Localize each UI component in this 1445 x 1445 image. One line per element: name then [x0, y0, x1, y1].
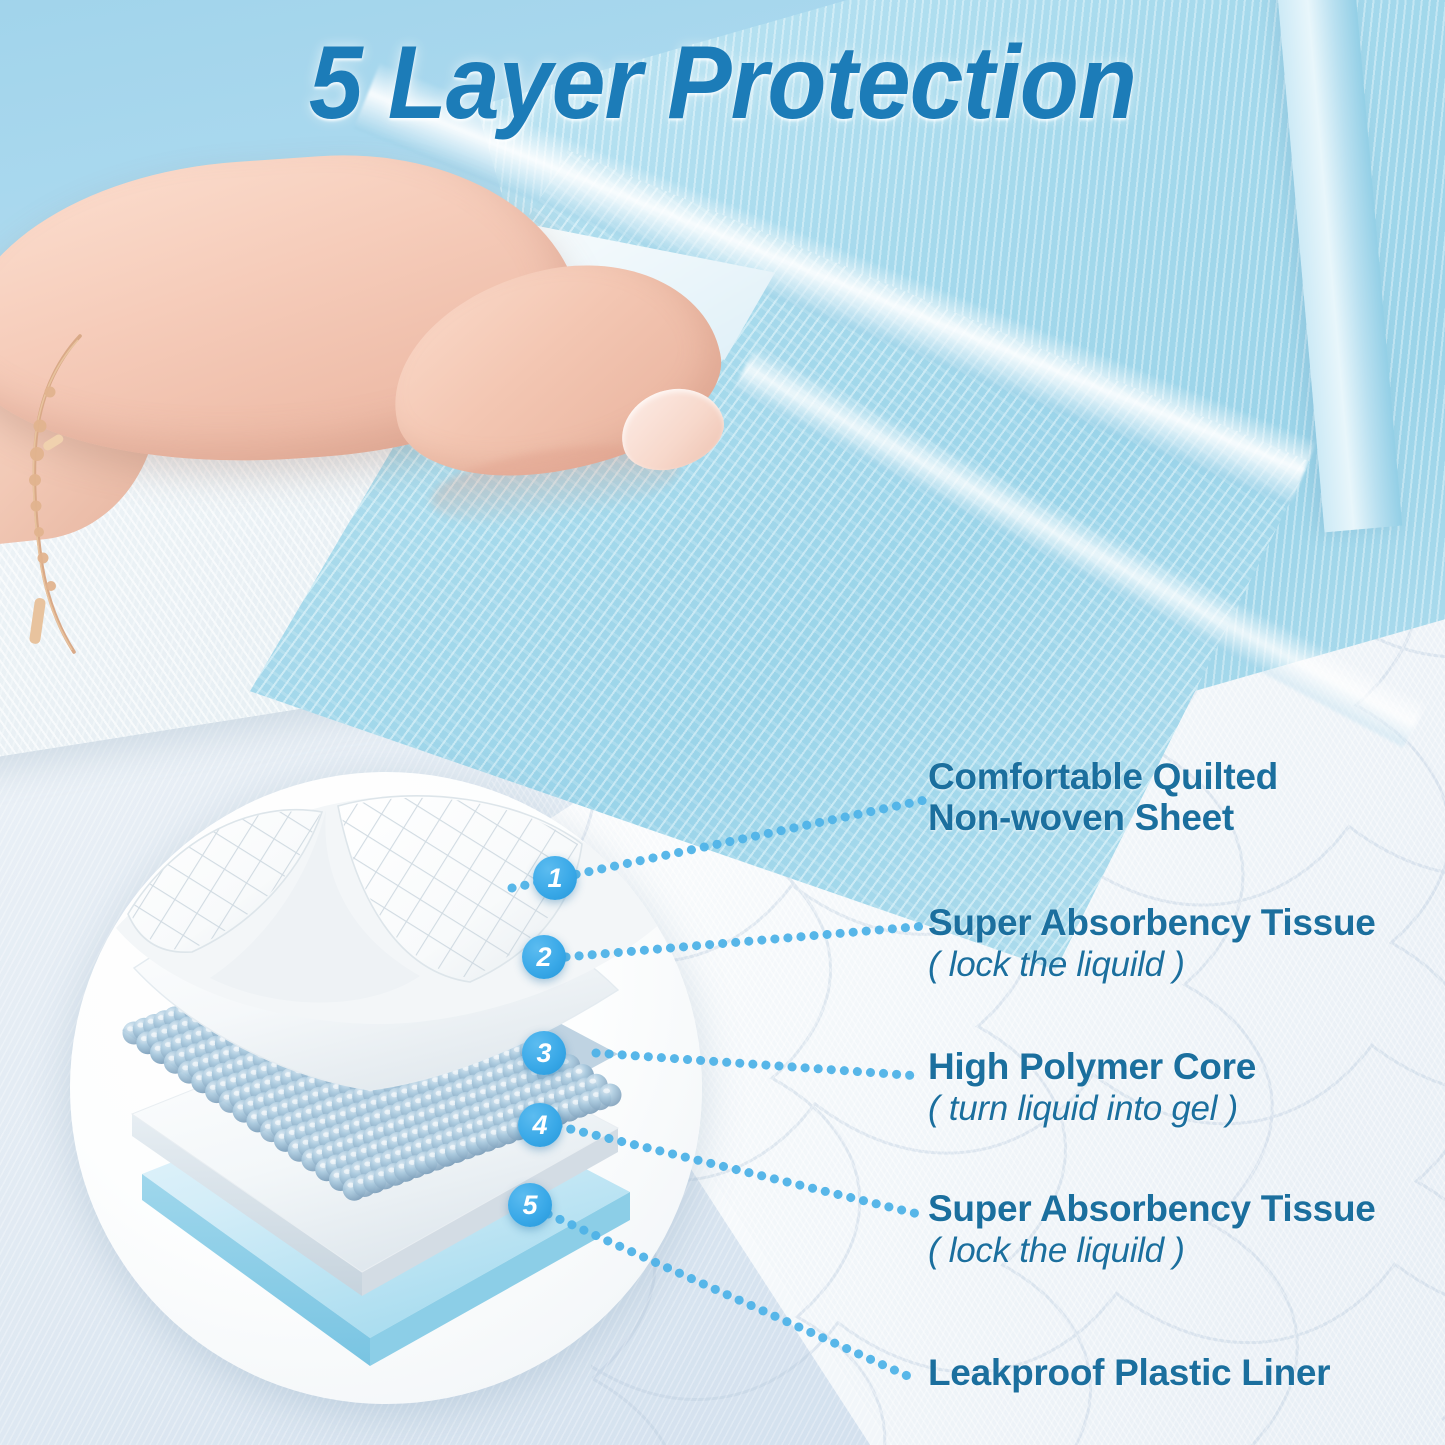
- layer-badge-3: 3: [522, 1031, 566, 1075]
- layer-label-4-title: Super Absorbency Tissue: [928, 1188, 1376, 1229]
- layer-badge-2: 2: [522, 935, 566, 979]
- layer-diagram-circle: [70, 772, 702, 1404]
- layer-label-2-subtitle: ( lock the liquild ): [928, 945, 1376, 985]
- layer-badge-5: 5: [508, 1183, 552, 1227]
- layer-label-3-title: High Polymer Core: [928, 1046, 1256, 1087]
- layer-label-1-title: Comfortable Quilted Non-woven Sheet: [928, 756, 1278, 839]
- layer-badge-1: 1: [533, 856, 577, 900]
- layer-label-4-subtitle: ( lock the liquild ): [928, 1231, 1376, 1271]
- hand-holding-pad: [0, 150, 780, 530]
- layer-label-5: Leakproof Plastic Liner: [928, 1352, 1330, 1395]
- layer-label-2-title: Super Absorbency Tissue: [928, 902, 1376, 943]
- layer-label-5-title: Leakproof Plastic Liner: [928, 1352, 1330, 1393]
- layer-label-3: High Polymer Core ( turn liquid into gel…: [928, 1046, 1256, 1130]
- layer-label-3-subtitle: ( turn liquid into gel ): [928, 1089, 1256, 1129]
- layer-label-4: Super Absorbency Tissue ( lock the liqui…: [928, 1188, 1376, 1272]
- infographic-canvas: 1 2 3 4 5 5 Layer Protection Comfortable…: [0, 0, 1445, 1445]
- layer-label-2: Super Absorbency Tissue ( lock the liqui…: [928, 902, 1376, 986]
- layer-label-1: Comfortable Quilted Non-woven Sheet: [928, 756, 1278, 841]
- chain-bracelet: [2, 330, 132, 660]
- page-title: 5 Layer Protection: [51, 24, 1395, 143]
- layer-badge-4: 4: [518, 1103, 562, 1147]
